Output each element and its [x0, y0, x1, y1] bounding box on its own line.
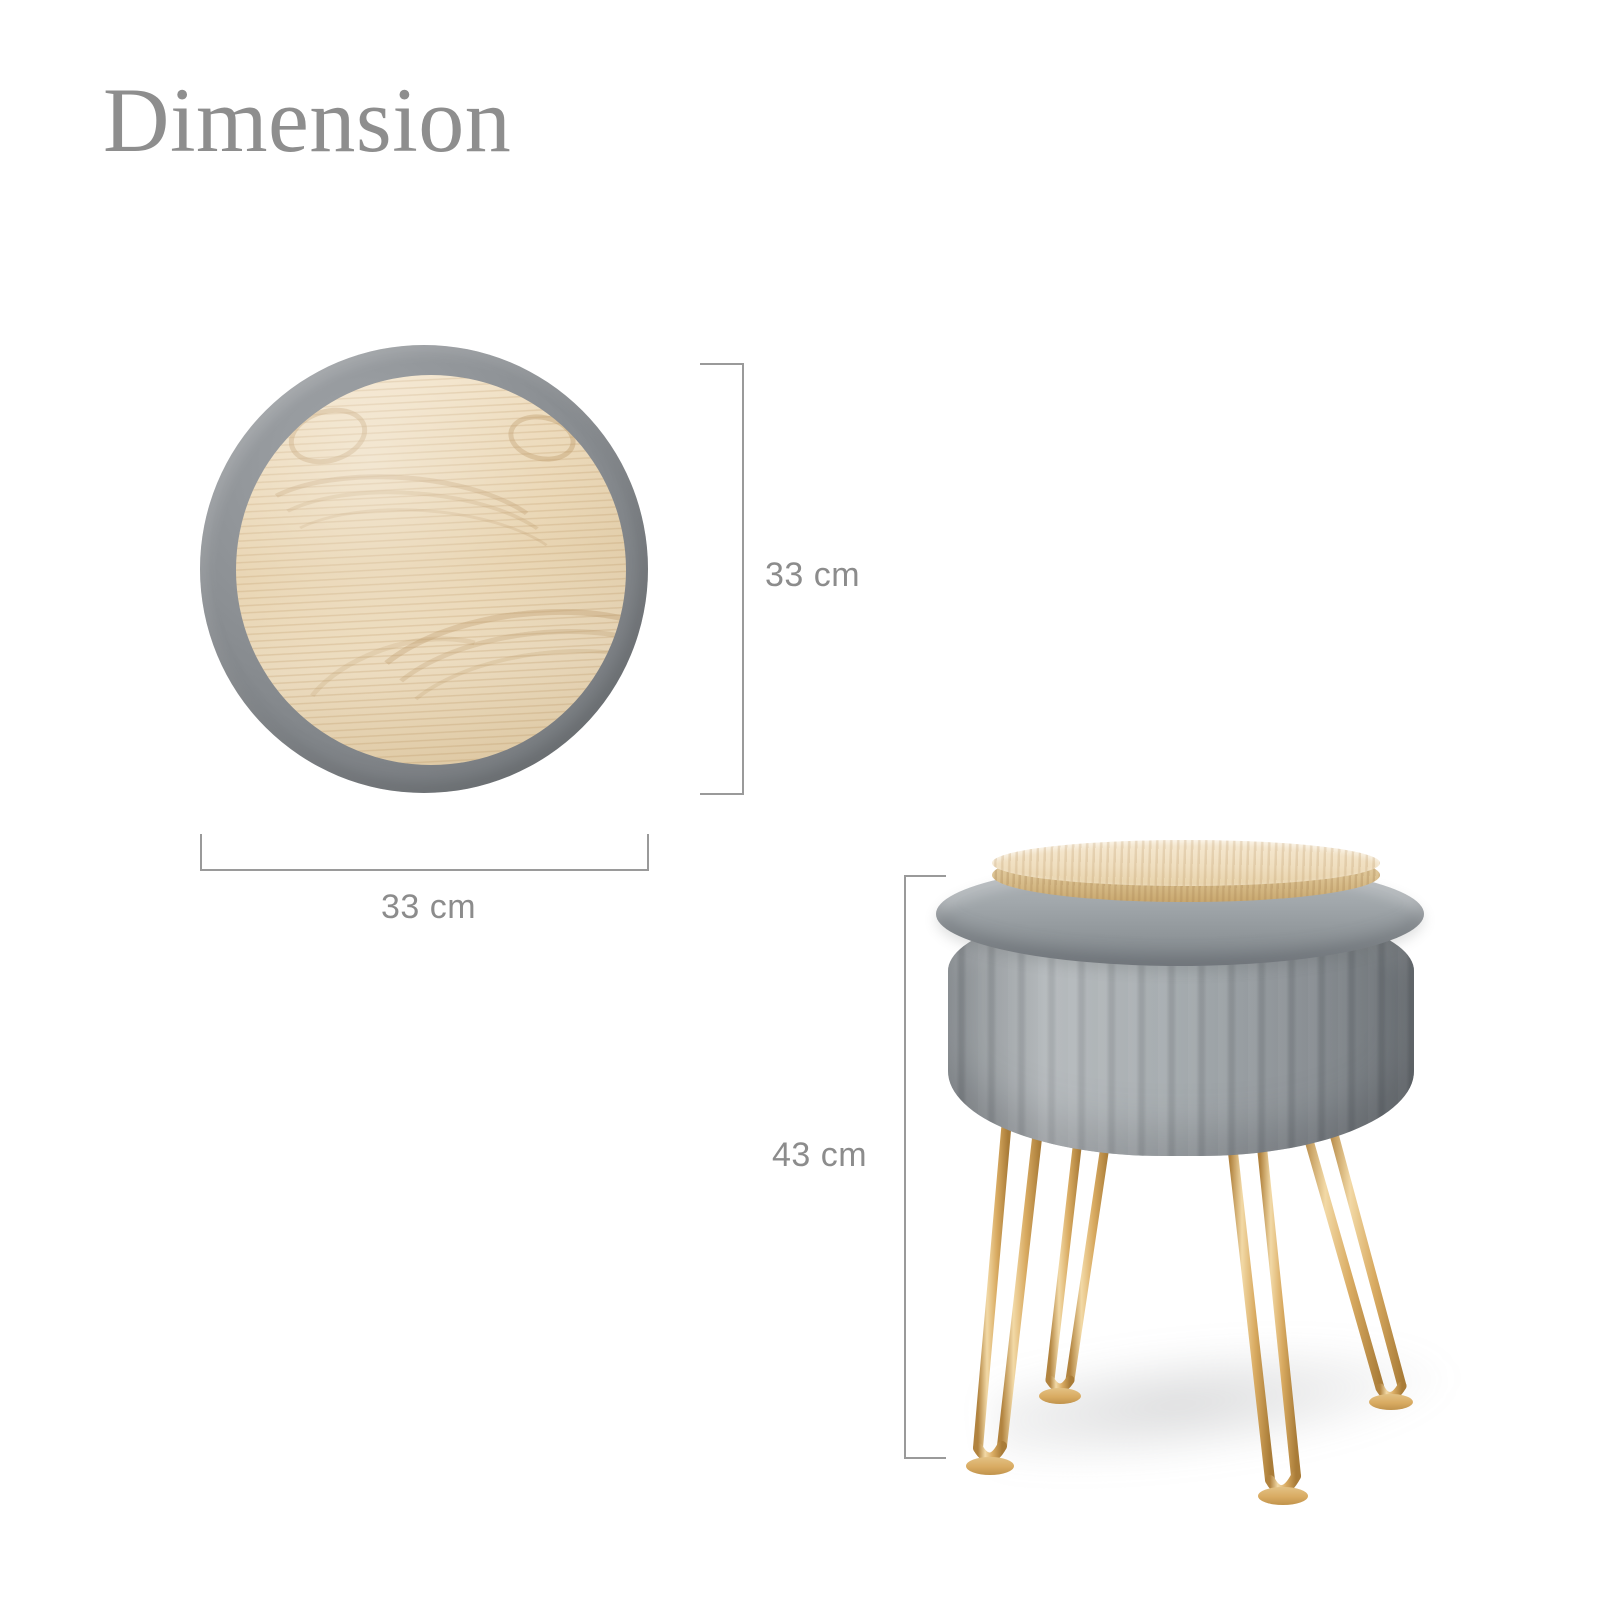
top-view-wooden-lid	[236, 375, 626, 765]
ottoman-top-view	[200, 345, 652, 797]
side-view-wooden-lid	[992, 840, 1380, 886]
top-width-tick-left	[200, 834, 202, 870]
leg-foot-pad	[1258, 1487, 1308, 1505]
leg-foot-pad	[966, 1457, 1014, 1475]
dimension-infographic: Dimension 33 cm 33 cm	[0, 0, 1600, 1600]
top-height-tick-bottom	[700, 793, 744, 795]
top-height-tick-top	[700, 363, 744, 365]
lid-top-grain	[992, 840, 1380, 886]
leg-foot-pad	[1039, 1388, 1081, 1404]
top-height-leader-line	[742, 363, 744, 795]
side-height-tick-top	[904, 875, 946, 877]
dimension-label-side-height: 43 cm	[772, 1136, 867, 1175]
side-height-leader-line	[904, 875, 906, 1459]
wood-shading-overlay	[236, 375, 626, 765]
page-title: Dimension	[103, 72, 511, 169]
leg-back-left	[1039, 1122, 1108, 1404]
leg-front-right	[1230, 1126, 1308, 1505]
side-height-tick-bottom	[904, 1457, 946, 1459]
top-width-leader-line	[200, 869, 649, 871]
leg-front-left	[966, 1108, 1040, 1475]
leg-back-right	[1302, 1112, 1413, 1410]
dimension-label-top-height: 33 cm	[765, 556, 860, 595]
dimension-label-top-width: 33 cm	[381, 888, 476, 927]
leg-foot-pad	[1369, 1394, 1413, 1410]
ottoman-side-view	[930, 840, 1450, 1520]
top-width-tick-right	[647, 834, 649, 870]
